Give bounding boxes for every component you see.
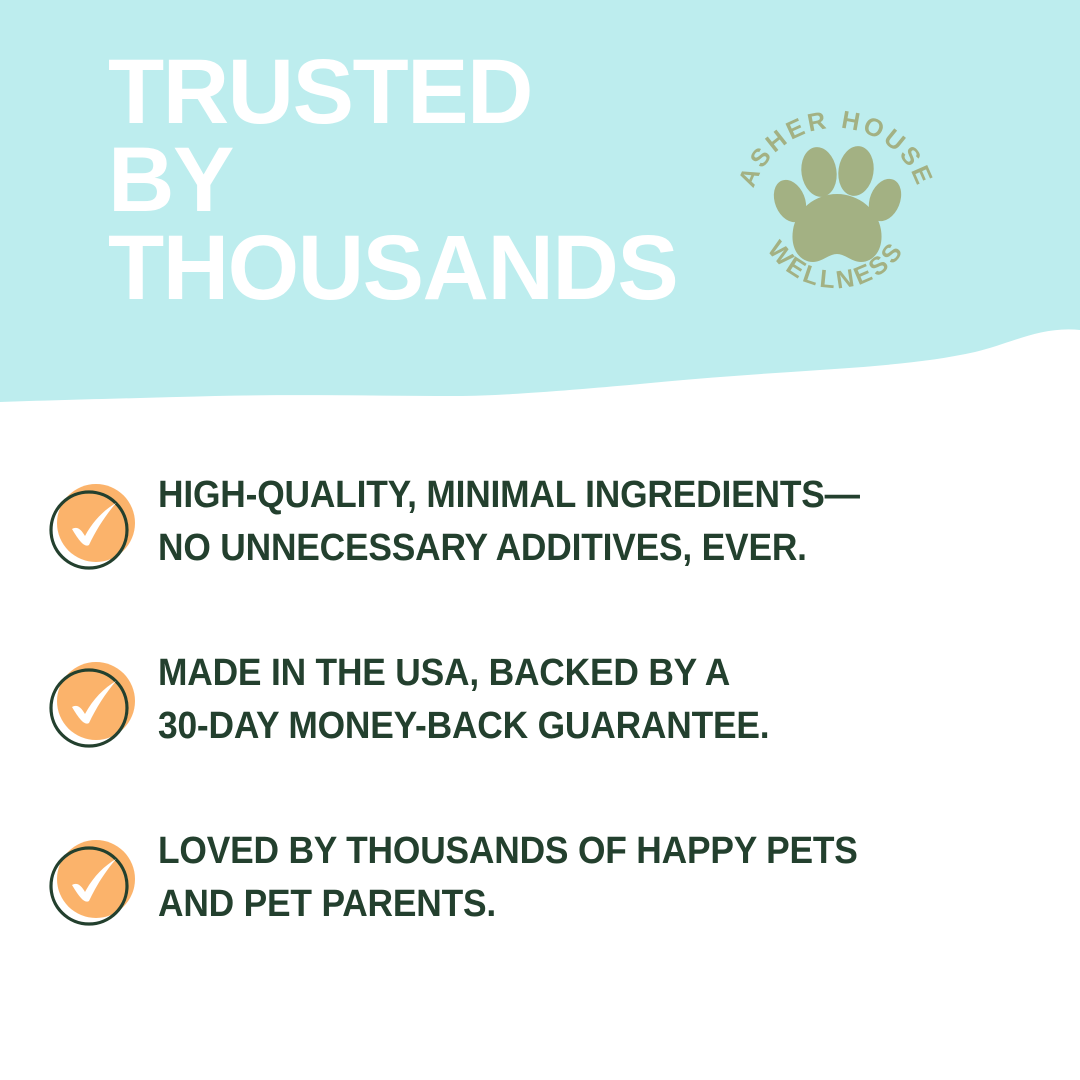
headline-line-3: THOUSANDS <box>108 224 677 312</box>
list-item: MADE IN THE USA, BACKED BY A 30-DAY MONE… <box>0 643 1080 799</box>
benefit-line: MADE IN THE USA, BACKED BY A <box>158 647 1015 700</box>
benefit-text: MADE IN THE USA, BACKED BY A 30-DAY MONE… <box>140 643 1080 753</box>
benefit-line: 30-DAY MONEY-BACK GUARANTEE. <box>158 700 1015 753</box>
benefits-list: HIGH-QUALITY, MINIMAL INGREDIENTS— NO UN… <box>0 465 1080 999</box>
brand-logo: ASHER HOUSE WELLNESS <box>728 96 944 312</box>
promo-graphic: TRUSTED BY THOUSANDS ASHER HOUSE WELLNES… <box>0 0 1080 1080</box>
check-circle-icon <box>44 479 140 575</box>
benefit-line: HIGH-QUALITY, MINIMAL INGREDIENTS— <box>158 469 1015 522</box>
benefit-line: LOVED BY THOUSANDS OF HAPPY PETS <box>158 825 1015 878</box>
check-circle-icon <box>44 657 140 753</box>
headline-line-1: TRUSTED <box>108 48 677 136</box>
page-title: TRUSTED BY THOUSANDS <box>108 48 677 312</box>
list-item: LOVED BY THOUSANDS OF HAPPY PETS AND PET… <box>0 821 1080 977</box>
benefit-line: NO UNNECESSARY ADDITIVES, EVER. <box>158 522 1015 575</box>
list-item: HIGH-QUALITY, MINIMAL INGREDIENTS— NO UN… <box>0 465 1080 621</box>
headline-line-2: BY <box>108 136 677 224</box>
benefit-line: AND PET PARENTS. <box>158 878 1015 931</box>
check-circle-icon <box>44 835 140 931</box>
benefit-text: LOVED BY THOUSANDS OF HAPPY PETS AND PET… <box>140 821 1080 931</box>
benefit-text: HIGH-QUALITY, MINIMAL INGREDIENTS— NO UN… <box>140 465 1080 575</box>
